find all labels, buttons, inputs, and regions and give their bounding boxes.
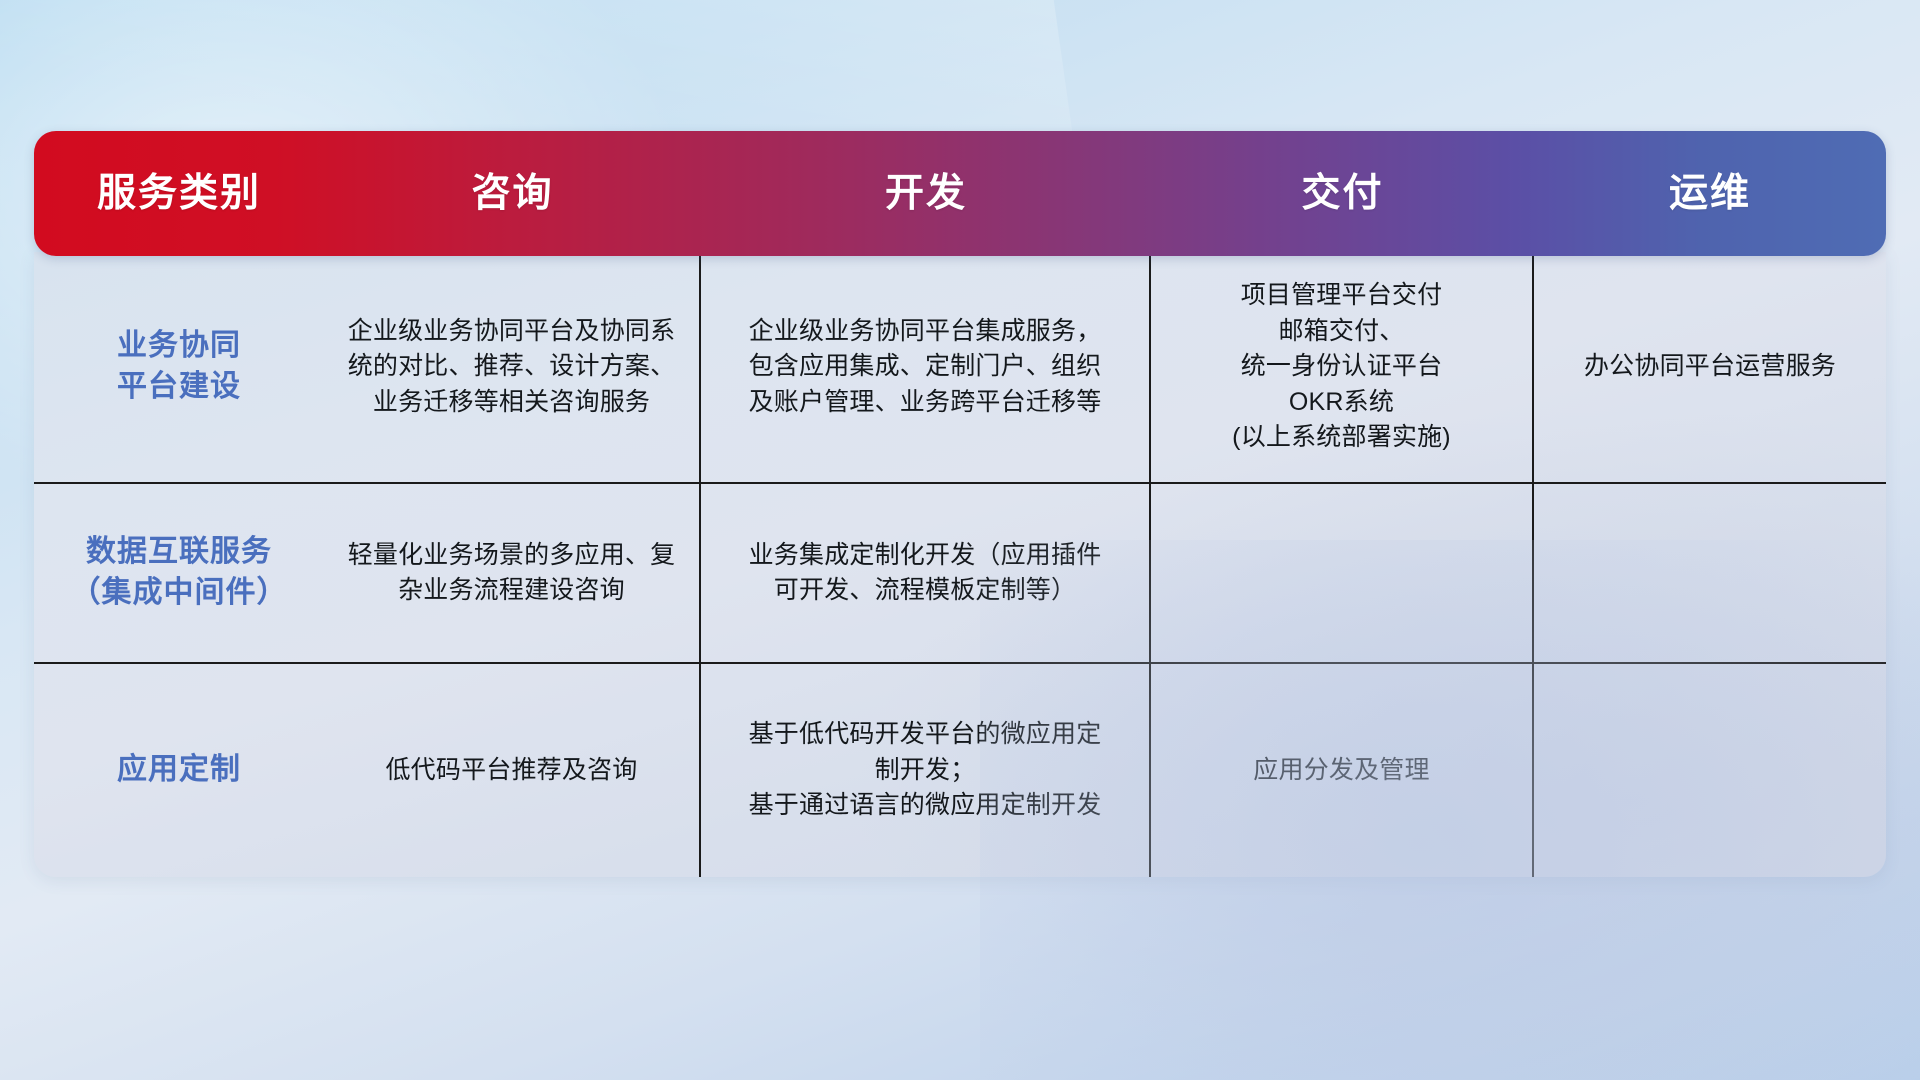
cell-consulting-text: 企业级业务协同平台及协同系 统的对比、推荐、设计方案、 业务迁移等相关咨询服务 <box>348 314 676 421</box>
row-category-label: 业务协同 平台建设 <box>117 326 241 408</box>
column-header-consulting-label: 咨询 <box>471 174 553 213</box>
table-row: 应用定制 低代码平台推荐及咨询 基于低代码开发平台的微应用定 制开发； 基于通过… <box>34 662 1886 877</box>
cell-consulting-text: 轻量化业务场景的多应用、复 杂业务流程建设咨询 <box>348 538 676 609</box>
cell-delivery <box>1151 482 1534 662</box>
column-header-development-label: 开发 <box>885 174 967 213</box>
cell-development-text: 业务集成定制化开发（应用插件 可开发、流程模板定制等） <box>749 538 1102 609</box>
cell-delivery-text: 应用分发及管理 <box>1253 753 1429 789</box>
row-category-cell: 数据互联服务 （集成中间件） <box>34 482 324 662</box>
slide-canvas: 服务类别 咨询 开发 交付 运维 业务协同 平台建设 <box>0 0 1920 1080</box>
column-header-delivery-label: 交付 <box>1301 174 1383 213</box>
cell-operations: 办公协同平台运营服务 <box>1534 252 1886 482</box>
table-row: 业务协同 平台建设 企业级业务协同平台及协同系 统的对比、推荐、设计方案、 业务… <box>34 252 1886 482</box>
cell-delivery: 项目管理平台交付 邮箱交付、 统一身份认证平台 OKR系统 (以上系统部署实施) <box>1151 252 1534 482</box>
cell-development-text: 基于低代码开发平台的微应用定 制开发； 基于通过语言的微应用定制开发 <box>749 717 1102 824</box>
row-category-label: 数据互联服务 （集成中间件） <box>71 532 288 614</box>
column-header-development: 开发 <box>701 131 1151 256</box>
cell-consulting: 企业级业务协同平台及协同系 统的对比、推荐、设计方案、 业务迁移等相关咨询服务 <box>324 252 701 482</box>
column-header-category-label: 服务类别 <box>97 174 261 213</box>
column-header-operations: 运维 <box>1534 131 1886 256</box>
cell-delivery: 应用分发及管理 <box>1151 662 1534 877</box>
cell-consulting-text: 低代码平台推荐及咨询 <box>385 753 637 789</box>
column-header-category: 服务类别 <box>34 131 324 256</box>
service-matrix-table: 服务类别 咨询 开发 交付 运维 业务协同 平台建设 <box>34 131 1886 877</box>
cell-delivery-text: 项目管理平台交付 邮箱交付、 统一身份认证平台 OKR系统 (以上系统部署实施) <box>1232 278 1451 456</box>
cell-operations-text: 办公协同平台运营服务 <box>1584 349 1836 385</box>
cell-development: 企业级业务协同平台集成服务， 包含应用集成、定制门户、组织 及账户管理、业务跨平… <box>701 252 1151 482</box>
table-row: 数据互联服务 （集成中间件） 轻量化业务场景的多应用、复 杂业务流程建设咨询 业… <box>34 482 1886 662</box>
table-body: 业务协同 平台建设 企业级业务协同平台及协同系 统的对比、推荐、设计方案、 业务… <box>34 252 1886 877</box>
column-header-operations-label: 运维 <box>1669 174 1751 213</box>
row-category-cell: 业务协同 平台建设 <box>34 252 324 482</box>
row-category-cell: 应用定制 <box>34 662 324 877</box>
column-header-consulting: 咨询 <box>324 131 701 256</box>
cell-consulting: 低代码平台推荐及咨询 <box>324 662 701 877</box>
cell-development: 基于低代码开发平台的微应用定 制开发； 基于通过语言的微应用定制开发 <box>701 662 1151 877</box>
cell-consulting: 轻量化业务场景的多应用、复 杂业务流程建设咨询 <box>324 482 701 662</box>
column-header-delivery: 交付 <box>1151 131 1534 256</box>
cell-development-text: 企业级业务协同平台集成服务， 包含应用集成、定制门户、组织 及账户管理、业务跨平… <box>749 314 1102 421</box>
cell-operations <box>1534 482 1886 662</box>
cell-operations <box>1534 662 1886 877</box>
table-header-row: 服务类别 咨询 开发 交付 运维 <box>34 131 1886 256</box>
cell-development: 业务集成定制化开发（应用插件 可开发、流程模板定制等） <box>701 482 1151 662</box>
row-category-label: 应用定制 <box>117 750 241 791</box>
